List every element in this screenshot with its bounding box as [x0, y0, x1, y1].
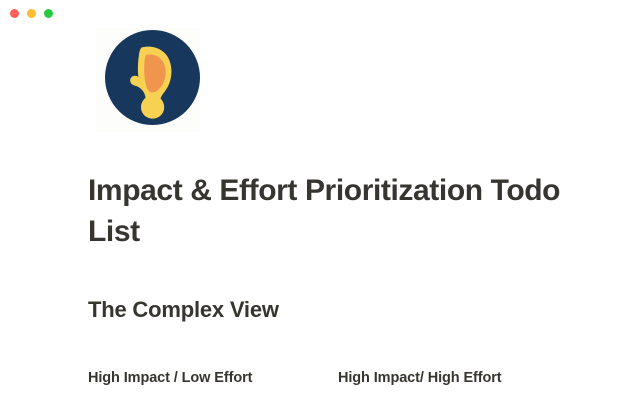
app-logo-circle [105, 30, 200, 125]
close-window-button[interactable] [10, 9, 19, 18]
traffic-lights [10, 9, 53, 18]
window-titlebar [0, 0, 640, 28]
maximize-window-button[interactable] [44, 9, 53, 18]
app-window: Impact & Effort Prioritization Todo List… [0, 0, 640, 400]
page-title[interactable]: Impact & Effort Prioritization Todo List [88, 170, 568, 252]
column-header-high-impact-high-effort[interactable]: High Impact/ High Effort [338, 368, 502, 388]
app-logo-bird-icon [105, 30, 200, 125]
page-subtitle[interactable]: The Complex View [88, 295, 279, 325]
page-content: Impact & Effort Prioritization Todo List… [0, 28, 640, 400]
page-icon[interactable] [96, 28, 200, 132]
minimize-window-button[interactable] [27, 9, 36, 18]
quadrant-column-headers: High Impact / Low Effort High Impact/ Hi… [88, 368, 558, 392]
column-header-high-impact-low-effort[interactable]: High Impact / Low Effort [88, 368, 252, 388]
